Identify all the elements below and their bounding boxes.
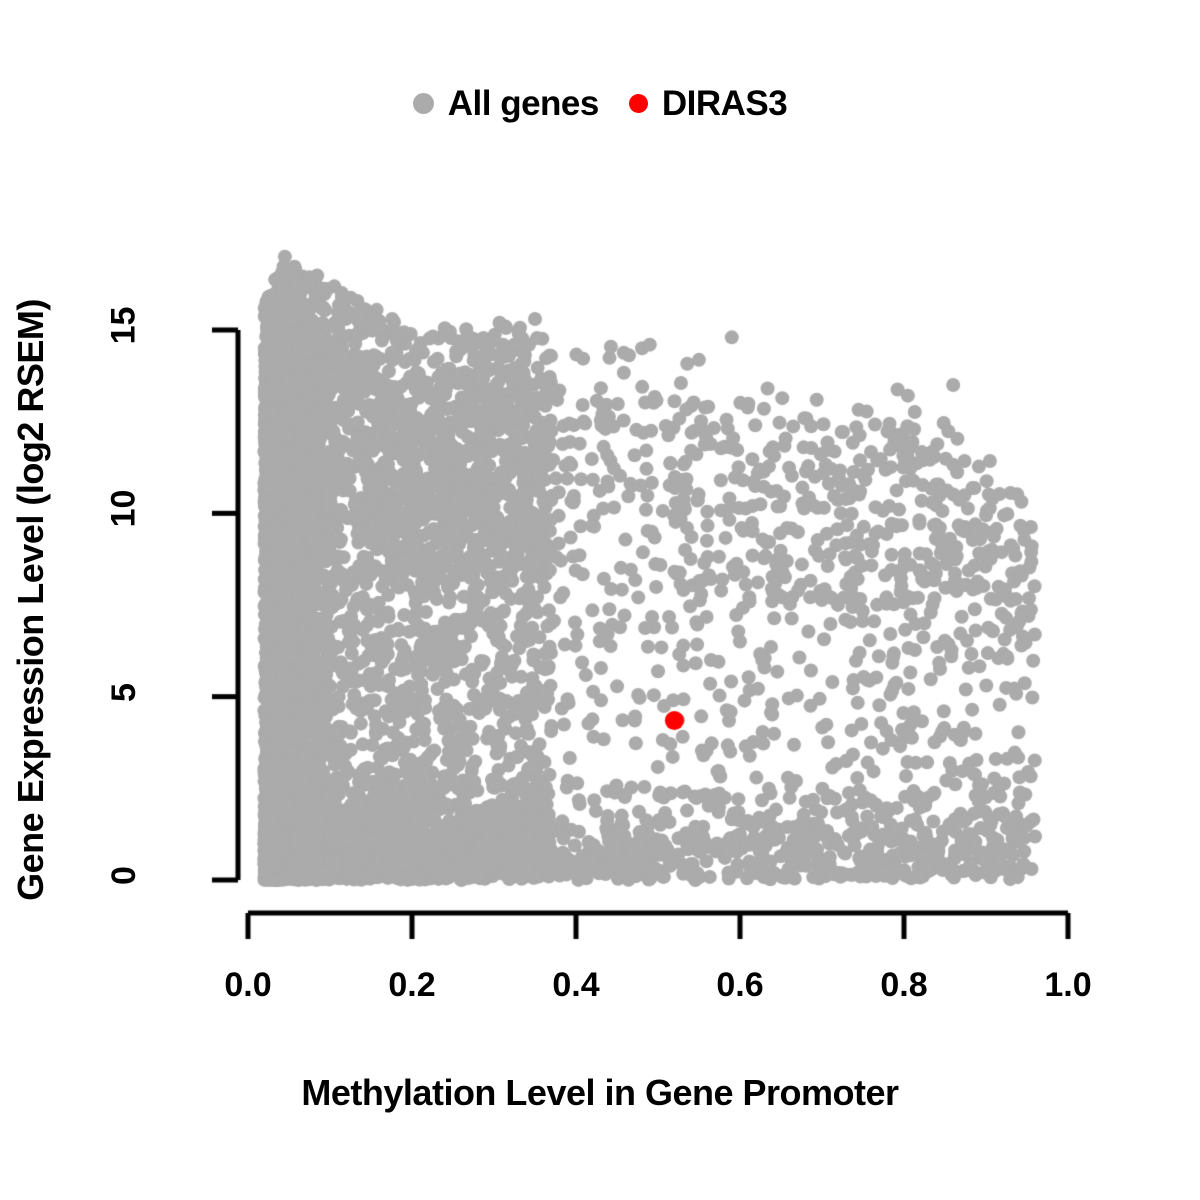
x-tick-label: 0.2 [342,966,482,1005]
y-tick-label: 15 [64,306,184,345]
scatter-plot-figure: All genes DIRAS3 Gene Expression Level (… [0,0,1200,1200]
legend-label-diras3: DIRAS3 [662,86,787,121]
legend-item-all-genes: All genes [413,86,599,121]
legend-label-all-genes: All genes [448,86,599,121]
y-tick-label: 10 [64,489,184,528]
x-axis-title: Methylation Level in Gene Promoter [0,1072,1200,1114]
scatter-plot-canvas [0,0,1200,1200]
x-tick-label: 1.0 [998,966,1138,1005]
y-tick-label: 5 [64,673,184,712]
x-tick-label: 0.0 [178,966,318,1005]
y-axis-title-text: Gene Expression Level (log2 RSEM) [10,299,52,901]
red-dot-icon [629,94,648,113]
chart-legend: All genes DIRAS3 [0,86,1200,121]
x-tick-label: 0.8 [834,966,974,1005]
gray-dot-icon [413,93,434,114]
legend-item-diras3: DIRAS3 [629,86,787,121]
y-axis-title: Gene Expression Level (log2 RSEM) [0,0,62,1200]
y-tick-label: 0 [64,856,184,895]
x-tick-label: 0.4 [506,966,646,1005]
x-tick-label: 0.6 [670,966,810,1005]
